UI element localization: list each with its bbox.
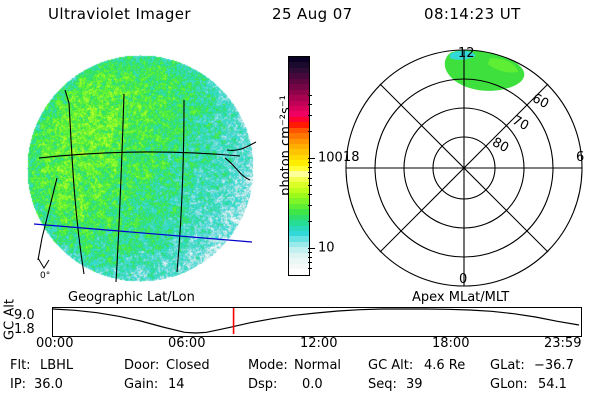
orbit-x-tick-3: 18:00 — [432, 336, 469, 351]
status-seq-label: Seq: — [368, 377, 397, 392]
status-ip-label: IP: — [10, 377, 26, 392]
header-bar: Ultraviolet Imager 25 Aug 07 08:14:23 UT — [0, 5, 600, 29]
colorbar-minor-tick — [308, 205, 312, 206]
colorbar-gradient — [288, 56, 310, 276]
status-glon-label: GLon: — [490, 377, 528, 392]
colorbar-minor-tick — [308, 185, 312, 186]
colorbar-minor-tick — [308, 162, 312, 163]
colorbar-minor-tick — [308, 194, 312, 195]
meridian-line — [65, 90, 69, 103]
mlt-label-6: 6 — [576, 150, 584, 165]
status-mode-label: Mode: — [248, 358, 288, 373]
colorbar-minor-tick — [308, 262, 312, 263]
colorbar-minor-tick — [308, 167, 312, 168]
mlt-label-18: 18 — [343, 150, 360, 165]
status-seq-value: 39 — [406, 377, 423, 392]
status-flt-value: LBHL — [40, 358, 73, 373]
status-door-value: Closed — [166, 358, 210, 373]
header-date: 25 Aug 07 — [272, 5, 353, 23]
colorbar-segment — [289, 269, 309, 274]
status-gcalt-label: GC Alt: — [368, 358, 413, 373]
meridian-line — [42, 178, 57, 238]
meridian-line — [177, 100, 184, 272]
mlt-label-0: 0 — [459, 272, 467, 287]
geo-annotation-label: 0° — [40, 271, 50, 281]
colorbar-minor-tick — [308, 95, 312, 96]
colorbar-tick-label: 10 — [318, 241, 335, 256]
orbit-x-tick-2: 12:00 — [300, 336, 337, 351]
status-flt-label: Flt: — [10, 358, 31, 373]
status-glat-label: GLat: — [490, 358, 525, 373]
parallel-line — [39, 152, 240, 158]
colorbar-minor-tick — [308, 268, 312, 269]
status-mode-value: Normal — [294, 358, 341, 373]
meridian-line — [116, 94, 124, 282]
orbit-x-tick-0: 00:00 — [36, 336, 73, 351]
meridian-line — [38, 238, 42, 260]
status-gain-value: 14 — [168, 377, 185, 392]
orbit-x-tick-4: 23:59 — [544, 336, 581, 351]
meridian-line — [69, 103, 84, 274]
colorbar-minor-tick — [308, 115, 312, 116]
geographic-image-panel[interactable]: 0° — [12, 46, 260, 290]
parallel-line — [227, 142, 256, 150]
header-time: 08:14:23 UT — [424, 5, 521, 23]
colorbar-minor-tick — [308, 257, 312, 258]
colorbar-major-tick — [308, 158, 315, 159]
colorbar-minor-tick — [308, 178, 312, 179]
terminator-line — [34, 224, 252, 242]
orbit-altitude-trace — [53, 309, 579, 333]
status-bar: Flt: LBHL Door: Closed Mode: Normal GC A… — [0, 358, 600, 400]
status-dsp-value: 0.0 — [302, 377, 323, 392]
status-glat-value: −36.7 — [534, 358, 574, 373]
colorbar-minor-tick — [308, 104, 312, 105]
status-ip-value: 36.0 — [34, 377, 63, 392]
aurora-patch-group — [445, 50, 524, 91]
status-gain-label: Gain: — [124, 377, 158, 392]
colorbar-minor-tick — [308, 252, 312, 253]
polar-mlat-mlt-panel[interactable]: 12 6 0 18 60 70 80 — [340, 44, 592, 292]
colorbar-minor-tick — [308, 131, 312, 132]
orbit-x-tick-1: 06:00 — [168, 336, 205, 351]
parallel-line — [225, 158, 250, 180]
polar-dial-graphic — [340, 44, 592, 292]
orientation-arrow-icon — [38, 258, 49, 268]
page-title: Ultraviolet Imager — [48, 5, 191, 23]
mlt-label-12: 12 — [458, 46, 475, 61]
geographic-grid-overlay: 0° — [12, 46, 260, 290]
status-dsp-label: Dsp: — [248, 377, 277, 392]
colorbar-major-tick — [308, 248, 315, 249]
orbit-altitude-panel[interactable]: Geographic Lat/Lon Apex MLat/MLT GC Alt … — [0, 290, 600, 352]
status-gcalt-value: 4.6 Re — [424, 358, 465, 373]
colorbar-minor-tick — [308, 172, 312, 173]
status-door-label: Door: — [124, 358, 159, 373]
colorbar-minor-tick — [308, 221, 312, 222]
status-glon-value: 54.1 — [538, 377, 567, 392]
